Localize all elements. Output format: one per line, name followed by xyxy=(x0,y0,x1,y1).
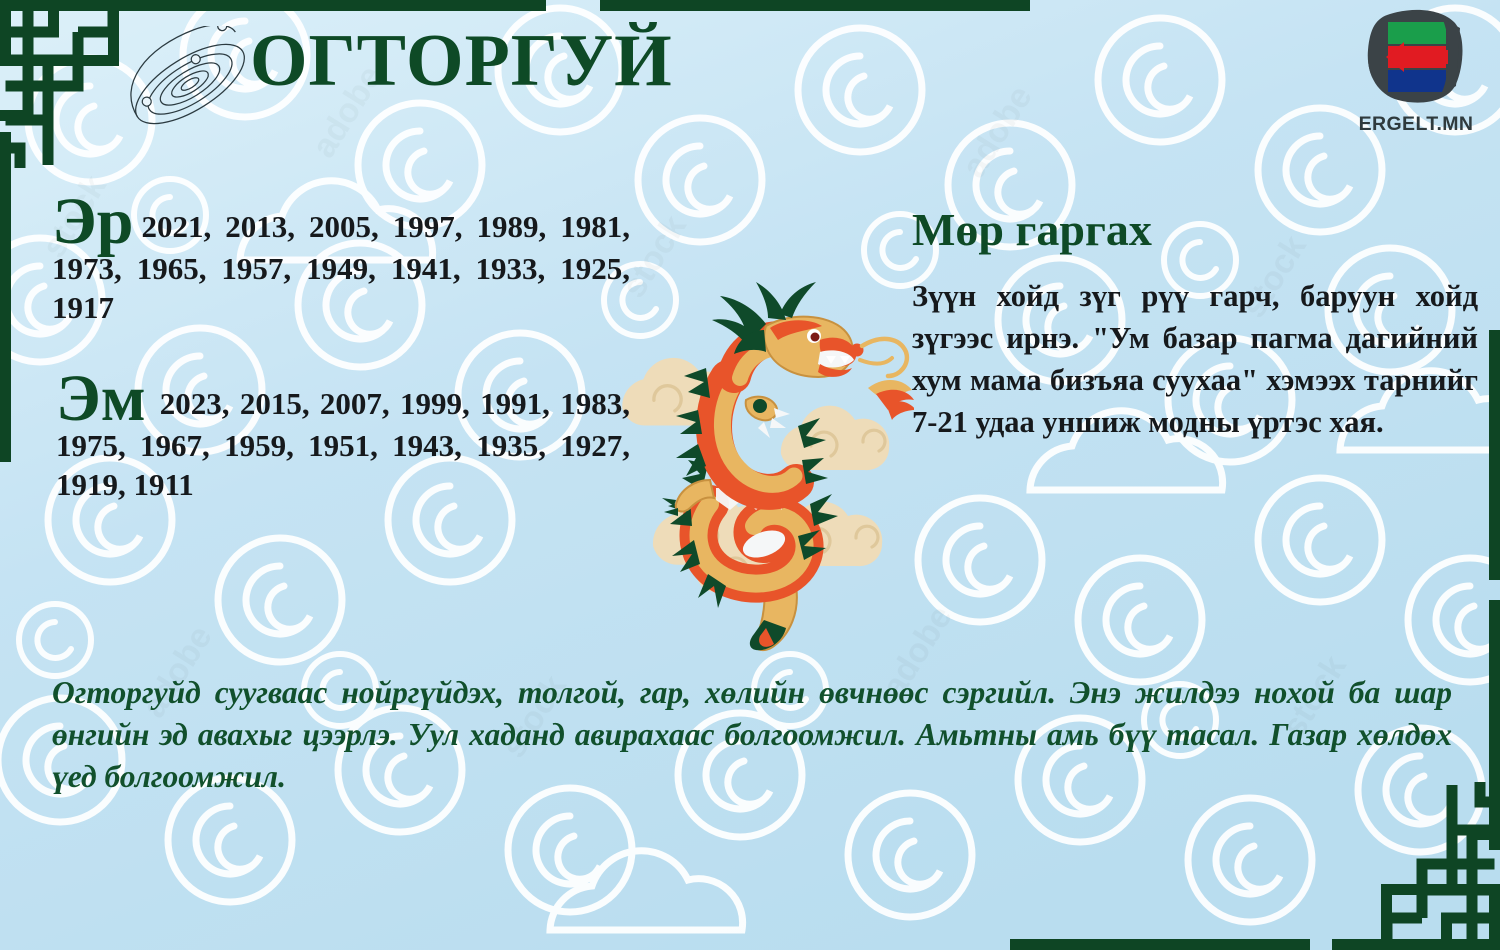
bottom-advice-note: Огторгуйд суугваас нойргүйдэх, толгой, г… xyxy=(52,672,1452,798)
galaxy-spiral-icon xyxy=(122,26,258,142)
site-logo[interactable]: ERGELT.MN xyxy=(1354,8,1478,136)
border-bar-bottom xyxy=(1010,939,1310,950)
direction-body-text: Зүүн хойд зүг рүү гарч, баруун хойд зүгэ… xyxy=(912,276,1478,443)
ergelt-e-badge-icon xyxy=(1364,8,1468,106)
border-bar-left xyxy=(0,132,11,462)
male-years-block: Эр2021, 2013, 2005, 1997, 1989, 1981, 19… xyxy=(52,196,630,327)
male-label: Эр xyxy=(52,185,133,258)
gender-years-column: Эр2021, 2013, 2005, 1997, 1989, 1981, 19… xyxy=(52,196,630,504)
dragon-illustration xyxy=(614,268,914,654)
male-years-text: 2021, 2013, 2005, 1997, 1989, 1981, 1973… xyxy=(52,209,630,325)
direction-advice-column: Мөр гаргах Зүүн хойд зүг рүү гарч, баруу… xyxy=(912,206,1478,443)
female-years-block: Эм2023, 2015, 2007, 1999, 1991, 1983, 19… xyxy=(52,373,630,504)
border-bar-right-upper xyxy=(1489,330,1500,580)
male-years-paragraph: Эр2021, 2013, 2005, 1997, 1989, 1981, 19… xyxy=(52,196,630,327)
border-bar-top-right xyxy=(600,0,1030,11)
poster-root: stock adobe stock adobe stock adobe stoc… xyxy=(0,0,1500,950)
female-years-paragraph: Эм2023, 2015, 2007, 1999, 1991, 1983, 19… xyxy=(52,373,630,504)
page-title: ОГТОРГУЙ xyxy=(250,24,673,98)
border-bar-top-left xyxy=(168,0,546,11)
meander-ornament-bottom-right xyxy=(1325,780,1500,950)
female-label: Эм xyxy=(56,362,146,435)
logo-text: ERGELT.MN xyxy=(1354,113,1478,136)
direction-heading: Мөр гаргах xyxy=(912,206,1478,254)
